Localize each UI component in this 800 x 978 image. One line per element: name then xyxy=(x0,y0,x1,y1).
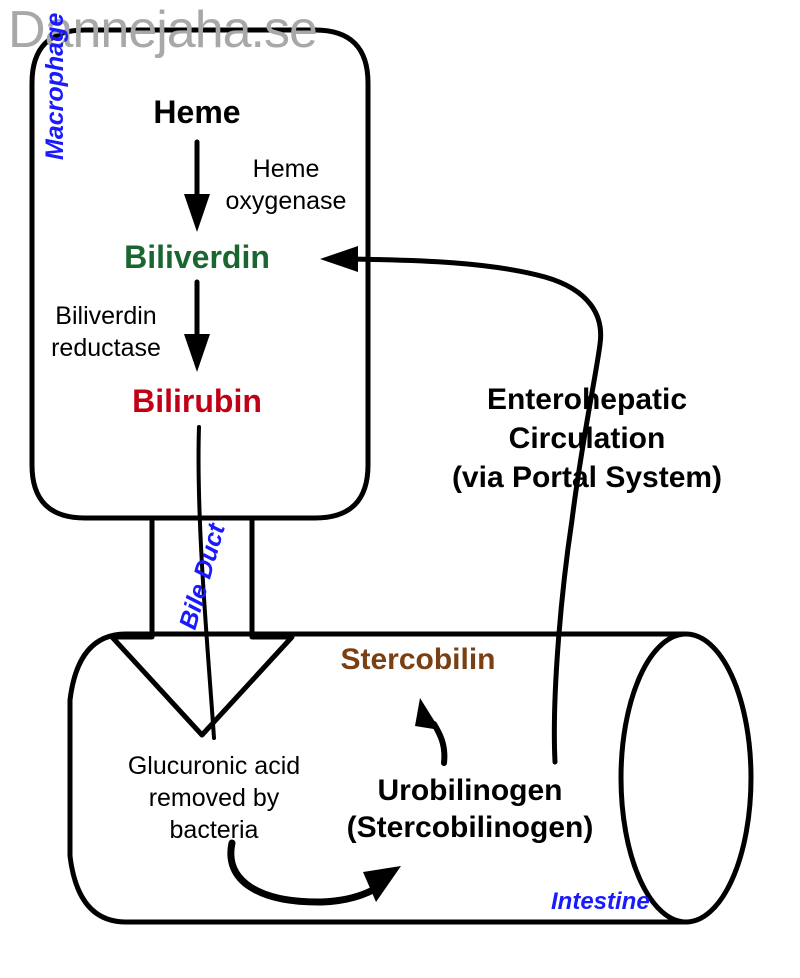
enterohepatic-label-line3: (via Portal System) xyxy=(452,462,722,494)
enterohepatic-label-line2: Circulation xyxy=(509,423,666,455)
enterohepatic-label-line1: Enterohepatic xyxy=(487,384,687,416)
biliverdin-label: Biliverdin xyxy=(124,240,270,275)
biliverdin-to-bilirubin-arrow-head xyxy=(184,334,210,372)
intestine-right-cap xyxy=(621,634,751,922)
biliverdin-reductase-label-line2: reductase xyxy=(51,335,161,362)
biliverdin-reductase-label-line1: Biliverdin xyxy=(55,303,156,330)
urobilinogen-to-stercobilin-head xyxy=(415,698,440,730)
bacteria-curved-arrow-head xyxy=(363,866,401,902)
bacteria-label-line3: bacteria xyxy=(170,817,259,844)
heme-oxygenase-label-line2: oxygenase xyxy=(226,188,347,215)
heme-label: Heme xyxy=(153,95,240,130)
urobilinogen-label-line1: Urobilinogen xyxy=(378,775,563,807)
enterohepatic-circulation-line xyxy=(345,259,601,762)
diagram-canvas: Dannejaha.se Macrophage Heme Biliverdin … xyxy=(0,0,800,978)
heme-oxygenase-label-line1: Heme xyxy=(253,156,320,183)
bacteria-label-line2: removed by xyxy=(149,785,280,812)
intestine-label: Intestine xyxy=(551,889,650,915)
bilirubin-label: Bilirubin xyxy=(132,384,262,419)
heme-to-biliverdin-arrow-head xyxy=(184,194,210,232)
intestine-left-cap xyxy=(70,634,126,922)
macrophage-label: Macrophage xyxy=(42,13,69,160)
bacteria-label-line1: Glucuronic acid xyxy=(128,753,300,780)
urobilinogen-label-line2: (Stercobilinogen) xyxy=(347,812,594,844)
stercobilin-label: Stercobilin xyxy=(340,644,495,676)
enterohepatic-arrow-head xyxy=(320,246,358,272)
bacteria-curved-arrow-shaft xyxy=(231,843,383,902)
